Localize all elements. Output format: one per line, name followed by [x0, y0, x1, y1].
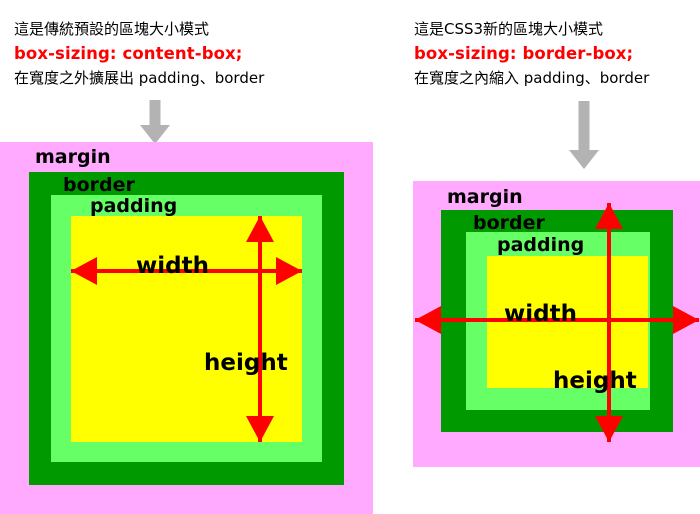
caption-border-box: 這是CSS3新的區塊大小模式 box-sizing: border-box; 在…: [414, 18, 649, 90]
caption-left-line-3: 在寬度之外擴展出 padding、border: [14, 67, 264, 90]
caption-left-line-1: 這是傳統預設的區塊大小模式: [14, 18, 264, 41]
height-arrow-tip-top: [246, 216, 274, 242]
border-label-left: border: [63, 176, 135, 195]
padding-label-right: padding: [497, 236, 584, 255]
width-arrow-tip-left: [415, 306, 441, 334]
down-arrow-shaft: [579, 101, 590, 151]
down-arrow-head: [569, 150, 599, 169]
height-label-left: height: [204, 352, 288, 375]
width-arrow-tip-right: [276, 257, 302, 285]
caption-right-line-3: 在寬度之內縮入 padding、border: [414, 67, 649, 90]
caption-content-box: 這是傳統預設的區塊大小模式 box-sizing: content-box; 在…: [14, 18, 264, 90]
width-label-right: width: [504, 303, 577, 326]
margin-label-left: margin: [35, 148, 111, 167]
down-arrow-icon: [568, 101, 600, 169]
width-label-left: width: [136, 255, 209, 278]
caption-right-line-1: 這是CSS3新的區塊大小模式: [414, 18, 649, 41]
caption-right-code: box-sizing: border-box;: [414, 41, 649, 67]
height-arrow-left: [245, 216, 275, 442]
width-arrow-tip-right: [673, 306, 699, 334]
down-arrow-icon: [139, 100, 171, 144]
height-arrow-shaft: [258, 216, 262, 442]
width-arrow-tip-left: [71, 257, 97, 285]
height-arrow-tip-top: [595, 203, 623, 229]
height-label-right: height: [553, 370, 637, 393]
padding-label-left: padding: [90, 197, 177, 216]
height-arrow-tip-bottom: [595, 416, 623, 442]
height-arrow-tip-bottom: [246, 416, 274, 442]
border-label-right: border: [473, 214, 545, 233]
down-arrow-shaft: [150, 100, 161, 126]
caption-left-code: box-sizing: content-box;: [14, 41, 264, 67]
margin-label-right: margin: [447, 188, 523, 207]
